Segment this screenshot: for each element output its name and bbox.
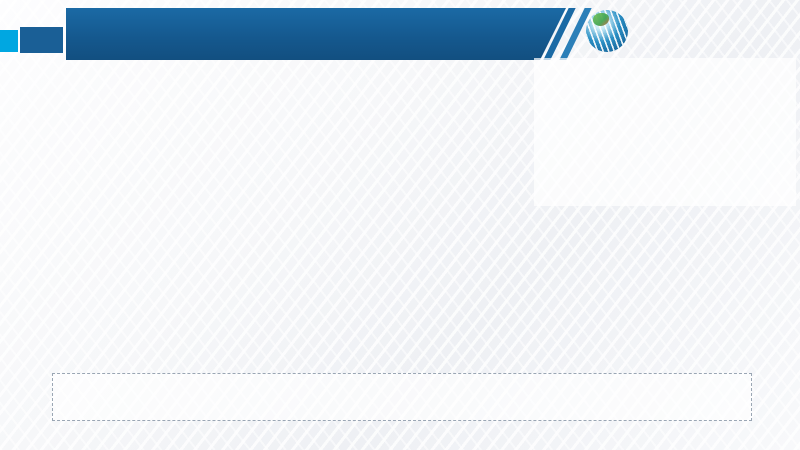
globe-icon [586,10,628,52]
left-content-column [33,68,531,75]
organization-logo [586,6,798,56]
summary-box [52,373,752,421]
header-blue-square [20,27,63,53]
header-cyan-square [0,30,18,52]
slide-canvas [0,0,800,450]
pie-chart-panel [534,58,796,206]
measures-columns [30,252,772,360]
title-banner [66,8,566,60]
